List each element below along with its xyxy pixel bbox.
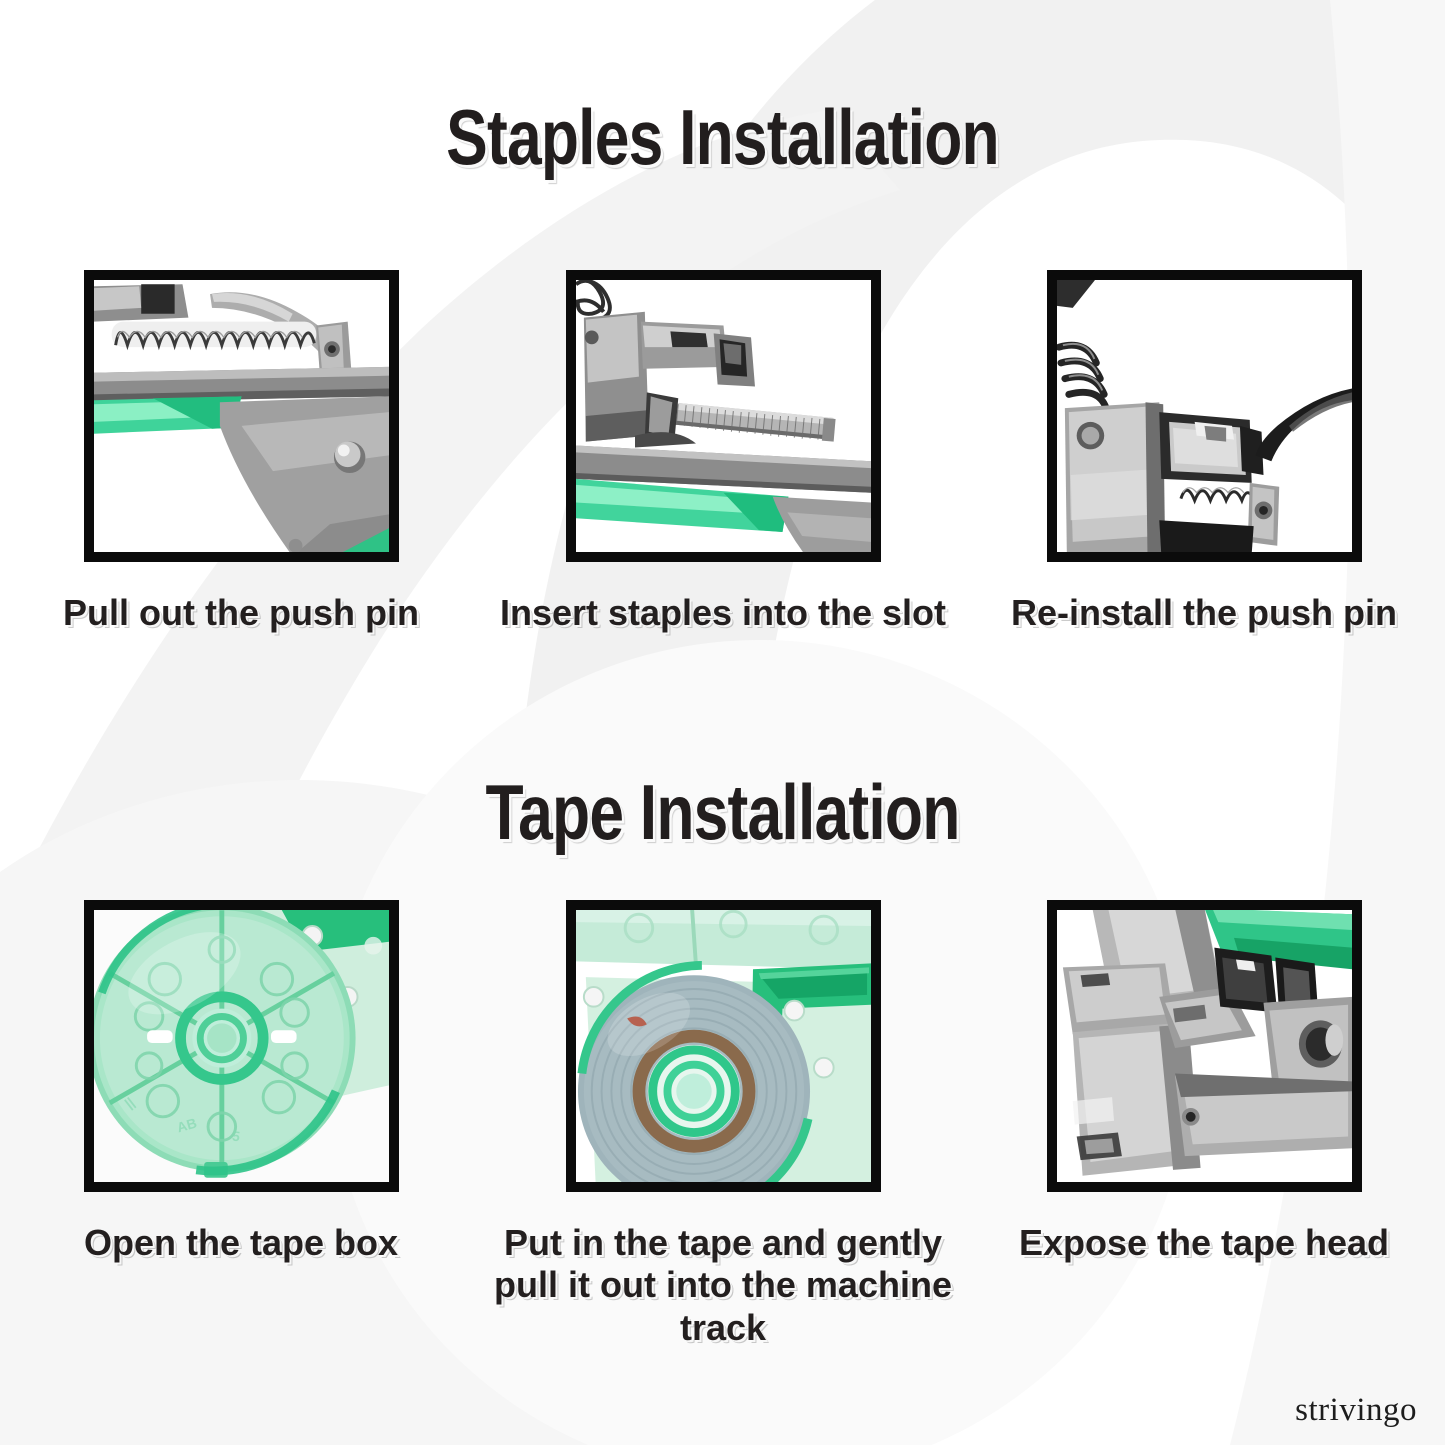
section-title-tape: Tape Installation xyxy=(145,773,1301,851)
tape-steps-row: || AB 5 Open the tape box xyxy=(0,900,1445,1420)
tape-tool-reinstall-push-pin-photo xyxy=(1047,270,1362,562)
infographic-page: Staples Installation xyxy=(0,0,1445,1445)
step-card-put-in-tape: Put in the tape and gently pull it out i… xyxy=(482,900,964,1349)
step-caption: Put in the tape and gently pull it out i… xyxy=(482,1222,964,1349)
step-card-reinstall-push-pin: Re-install the push pin xyxy=(963,270,1445,634)
tape-tool-staple-strip-slot-photo xyxy=(566,270,881,562)
rivet xyxy=(333,442,364,473)
brand-logo-strivingo: strivingo xyxy=(1295,1392,1417,1429)
step-caption: Pull out the push pin xyxy=(0,592,482,634)
step-caption: Expose the tape head xyxy=(963,1222,1445,1264)
green-handle xyxy=(94,396,242,433)
metal-body-plate xyxy=(1064,402,1164,552)
step-caption: Re-install the push pin xyxy=(963,592,1445,634)
step-card-open-tape-box: || AB 5 Open the tape box xyxy=(0,900,482,1264)
step-card-pull-out-push-pin: Pull out the push pin xyxy=(0,270,482,634)
coil-spring xyxy=(111,322,316,348)
tool-head-center xyxy=(1159,412,1263,483)
tape-head-metal-jaw-photo xyxy=(1047,900,1362,1192)
tape-roll-in-green-box-photo xyxy=(566,900,881,1192)
step-caption: Open the tape box xyxy=(0,1222,482,1264)
step-caption: Insert staples into the slot xyxy=(482,592,964,634)
step-card-insert-staples: Insert staples into the slot xyxy=(482,270,964,634)
tape-tool-spring-push-pin-photo xyxy=(84,270,399,562)
green-tape-box-cover-photo: || AB 5 xyxy=(84,900,399,1192)
section-title-staples: Staples Installation xyxy=(145,98,1301,176)
staples-steps-row: Pull out the push pin xyxy=(0,270,1445,740)
screw xyxy=(1181,1108,1199,1126)
step-card-expose-tape-head: Expose the tape head xyxy=(963,900,1445,1264)
